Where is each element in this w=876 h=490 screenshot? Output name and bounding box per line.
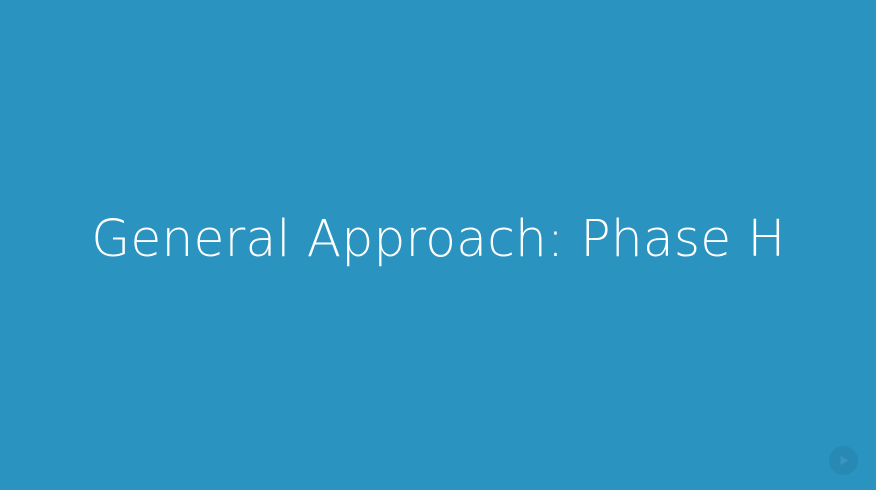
presentation-slide: General Approach: Phase H (0, 0, 876, 490)
slide-title-container: General Approach: Phase H (0, 0, 876, 490)
play-triangle-glyph (835, 452, 852, 469)
play-circle-icon[interactable] (829, 446, 858, 475)
page-title: General Approach: Phase H (91, 212, 785, 267)
